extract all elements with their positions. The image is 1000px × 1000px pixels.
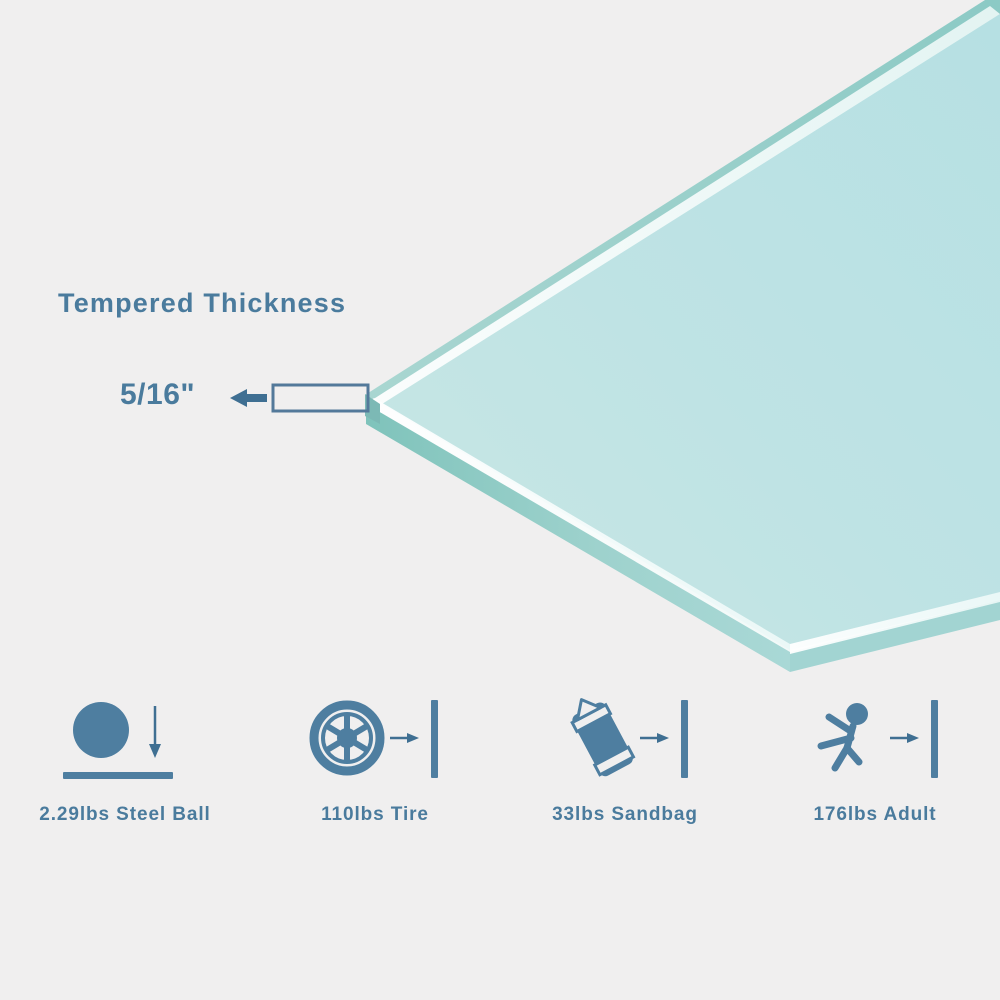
test-item-steel-ball: 2.29lbs Steel Ball [0, 690, 250, 840]
test-label: 33lbs Sandbag [552, 804, 698, 826]
glass-pane-vertical-icon [431, 700, 438, 778]
glass-pane-vertical-icon [931, 700, 938, 778]
arrow-right-icon [640, 733, 669, 743]
adult-running-icon [821, 703, 868, 768]
thickness-value: 5/16" [120, 378, 195, 412]
tire-figure [295, 690, 455, 790]
thickness-bracket-icon [225, 376, 370, 420]
sandbag-icon [565, 691, 635, 778]
tire-icon [314, 705, 380, 771]
arrow-right-icon [890, 733, 919, 743]
test-item-adult: 176lbs Adult [750, 690, 1000, 840]
glass-pane-horizontal-icon [63, 772, 173, 779]
adult-figure [795, 690, 955, 790]
steel-ball-figure [45, 690, 205, 790]
impact-test-row: 2.29lbs Steel Ball [0, 690, 1000, 840]
arrow-right-icon [390, 733, 419, 743]
test-label: 176lbs Adult [813, 804, 936, 826]
glass-pane-vertical-icon [681, 700, 688, 778]
thickness-rectangle [273, 385, 368, 411]
test-item-tire: 110lbs Tire [250, 690, 500, 840]
test-label: 2.29lbs Steel Ball [39, 804, 210, 826]
test-label: 110lbs Tire [321, 804, 429, 826]
infographic-canvas: Tempered Thickness 5/16" 2.29lbs [0, 0, 1000, 1000]
tempered-glass-panel [0, 0, 1000, 700]
arrow-left-icon [230, 389, 267, 407]
test-item-sandbag: 33lbs Sandbag [500, 690, 750, 840]
steel-ball-icon [73, 702, 129, 758]
arrow-down-icon [149, 706, 161, 758]
page-title: Tempered Thickness [58, 288, 346, 319]
sandbag-figure [545, 690, 705, 790]
